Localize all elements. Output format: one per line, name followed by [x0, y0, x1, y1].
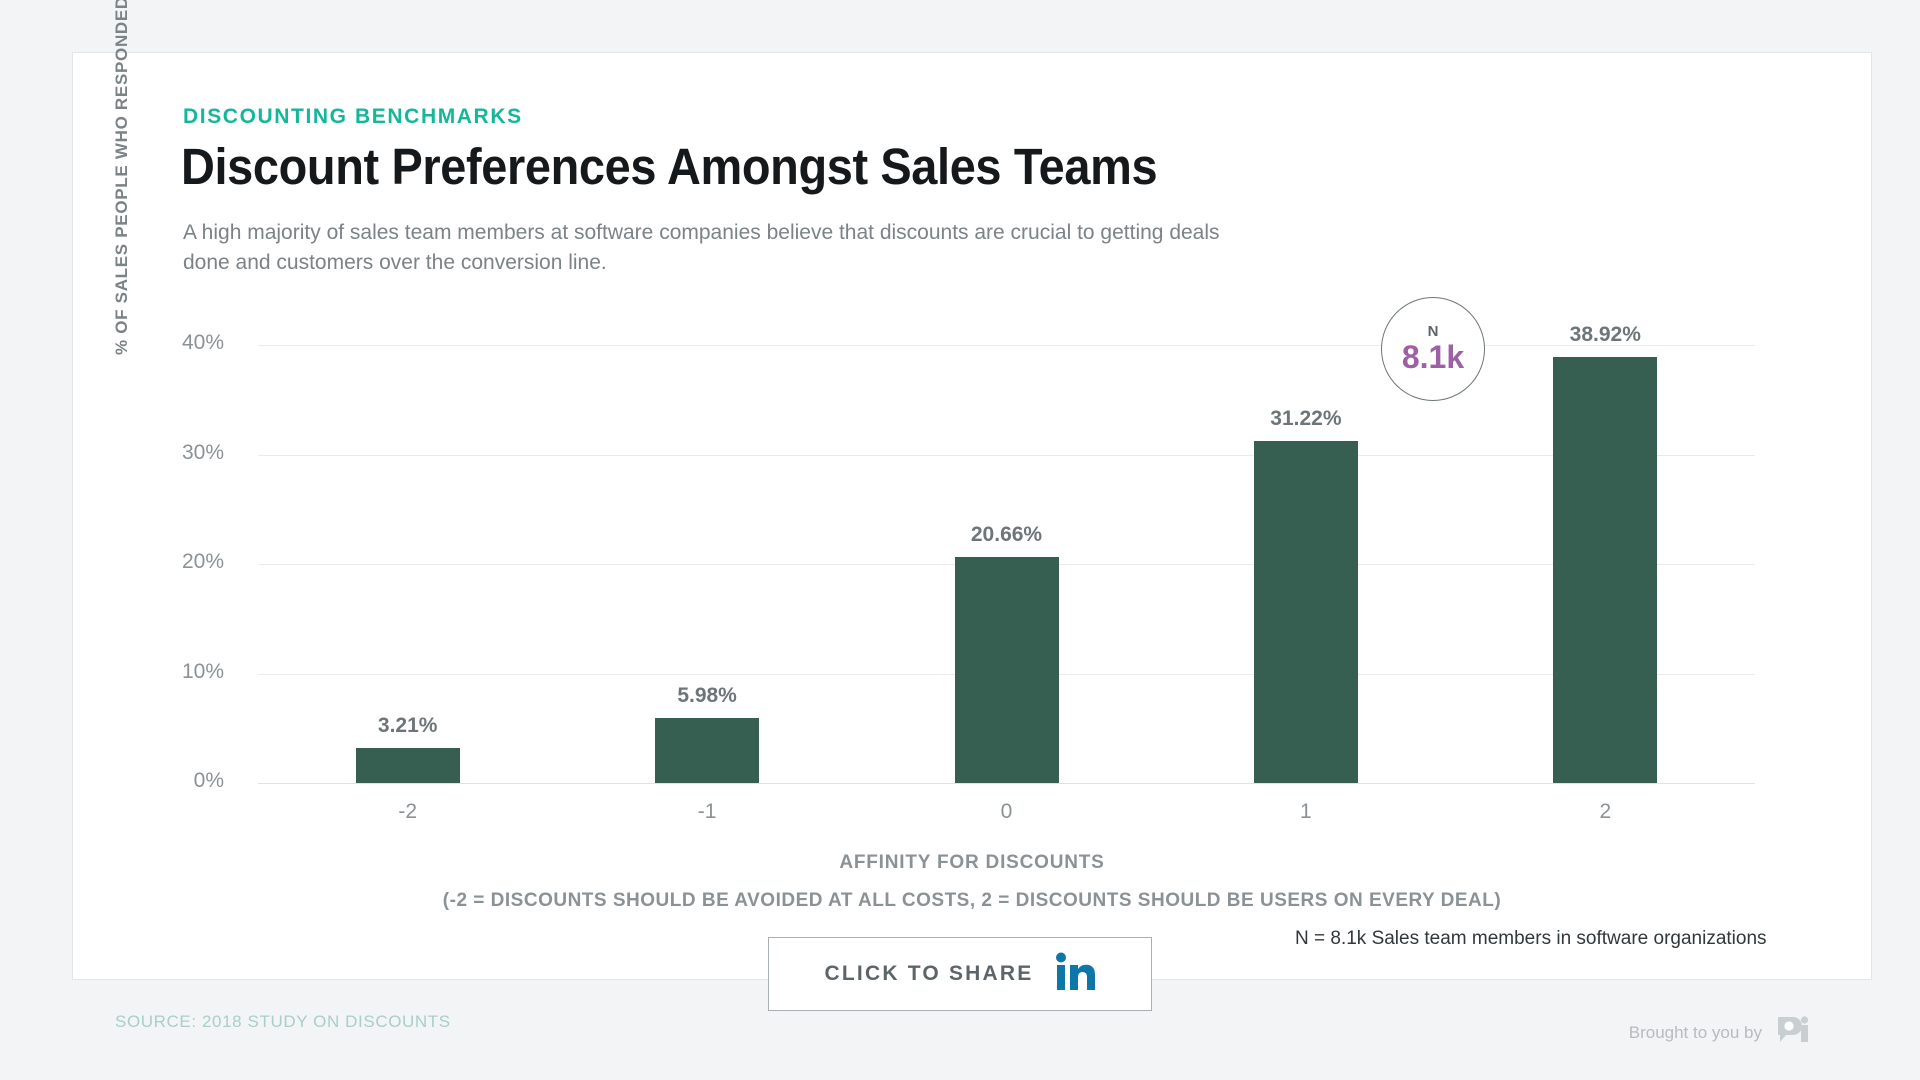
bar-value-label: 38.92%	[1495, 323, 1715, 347]
bar[interactable]	[1254, 441, 1358, 783]
bar-value-label: 20.66%	[897, 523, 1117, 547]
x-axis-tick-label: 2	[1495, 800, 1715, 824]
y-axis-tick-label: 0%	[194, 769, 224, 793]
x-axis-tick-label: 0	[897, 800, 1117, 824]
gridline	[258, 455, 1755, 456]
gridline	[258, 783, 1755, 784]
source-label: SOURCE: 2018 STUDY ON DISCOUNTS	[115, 1012, 451, 1032]
x-axis-title: AFFINITY FOR DISCOUNTS	[72, 852, 1872, 874]
y-axis-tick-label: 40%	[182, 331, 224, 355]
x-axis-note: (-2 = DISCOUNTS SHOULD BE AVOIDED AT ALL…	[72, 890, 1872, 912]
y-axis-title: % OF SALES PEOPLE WHO RESPONDED	[112, 0, 132, 355]
sample-size-letter: N	[1428, 324, 1439, 339]
infographic-page: DISCOUNTING BENCHMARKS Discount Preferen…	[0, 0, 1920, 1080]
share-button-label: CLICK TO SHARE	[825, 962, 1034, 986]
bar[interactable]	[655, 718, 759, 783]
y-axis-tick-label: 30%	[182, 441, 224, 465]
sample-size-badge: N 8.1k	[1381, 297, 1485, 401]
priceintelligently-logo-icon	[1776, 1014, 1812, 1051]
linkedin-icon	[1055, 952, 1095, 997]
x-axis-tick-label: -1	[597, 800, 817, 824]
x-axis-tick-label: -2	[298, 800, 518, 824]
page-title: Discount Preferences Amongst Sales Teams	[181, 137, 1157, 196]
bar-value-label: 5.98%	[597, 684, 817, 708]
brought-to-you-by: Brought to you by	[1629, 1014, 1812, 1051]
bar[interactable]	[955, 557, 1059, 783]
bar[interactable]	[1553, 357, 1657, 783]
y-axis-tick-label: 10%	[182, 660, 224, 684]
bar-value-label: 3.21%	[298, 714, 518, 738]
bar-value-label: 31.22%	[1196, 407, 1416, 431]
bar[interactable]	[356, 748, 460, 783]
page-subtitle: A high majority of sales team members at…	[183, 218, 1253, 278]
y-axis-tick-label: 20%	[182, 550, 224, 574]
sample-size-note: N = 8.1k Sales team members in software …	[1295, 928, 1767, 950]
brought-to-you-by-label: Brought to you by	[1629, 1023, 1762, 1043]
x-axis-tick-label: 1	[1196, 800, 1416, 824]
eyebrow-label: DISCOUNTING BENCHMARKS	[183, 105, 523, 129]
sample-size-value: 8.1k	[1402, 341, 1464, 375]
click-to-share-button[interactable]: CLICK TO SHARE	[768, 937, 1152, 1011]
